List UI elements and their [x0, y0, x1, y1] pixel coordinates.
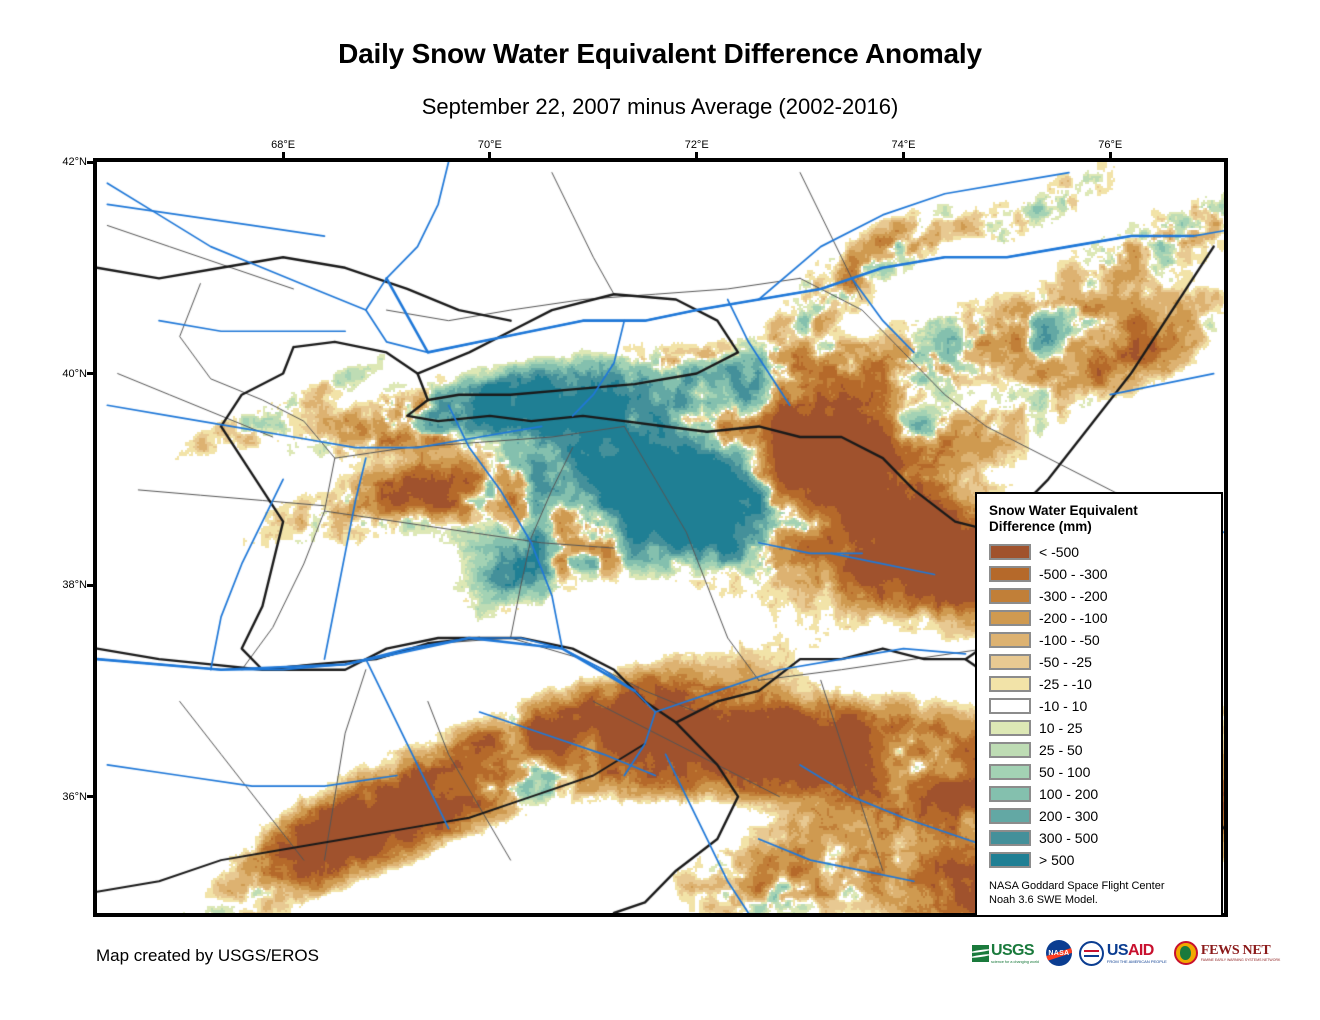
legend-swatch [989, 676, 1031, 692]
legend-label: 50 - 100 [1039, 764, 1090, 780]
longitude-label: 70°E [478, 139, 502, 151]
usgs-logo-label: USGS [991, 943, 1039, 959]
legend-label: -300 - -200 [1039, 588, 1107, 604]
longitude-tick [902, 152, 905, 162]
latitude-tick [87, 372, 97, 375]
latitude-tick [87, 161, 97, 164]
legend-label: 100 - 200 [1039, 786, 1098, 802]
latitude-label: 42°N [49, 156, 87, 168]
legend-row: 25 - 50 [989, 739, 1211, 761]
legend-swatch [989, 808, 1031, 824]
legend-label: 10 - 25 [1039, 720, 1083, 736]
legend-label: -500 - -300 [1039, 566, 1107, 582]
usgs-wave-icon [972, 945, 989, 962]
legend-swatch [989, 786, 1031, 802]
latitude-tick [87, 795, 97, 798]
legend-row: 50 - 100 [989, 761, 1211, 783]
legend-swatch [989, 698, 1031, 714]
legend-label: -200 - -100 [1039, 610, 1107, 626]
legend-label: 25 - 50 [1039, 742, 1083, 758]
fewsnet-logo: FEWS NET FAMINE EARLY WARNING SYSTEMS NE… [1174, 938, 1280, 968]
legend-source-note: NASA Goddard Space Flight Center Noah 3.… [989, 879, 1211, 908]
usgs-logo: USGS science for a changing world [972, 938, 1039, 968]
usaid-logo-tagline: FROM THE AMERICAN PEOPLE [1107, 960, 1167, 964]
legend-label: < -500 [1039, 544, 1079, 560]
legend-swatch [989, 720, 1031, 736]
legend-swatch [989, 632, 1031, 648]
legend-label: 200 - 300 [1039, 808, 1098, 824]
latitude-tick [87, 584, 97, 587]
legend-row: -25 - -10 [989, 673, 1211, 695]
longitude-label: 74°E [891, 139, 915, 151]
usaid-logo-label: USAID [1107, 943, 1167, 959]
legend-row: -10 - 10 [989, 695, 1211, 717]
usgs-logo-tagline: science for a changing world [991, 960, 1039, 964]
legend-label: -50 - -25 [1039, 654, 1092, 670]
legend-panel: Snow Water Equivalent Difference (mm) < … [975, 492, 1223, 917]
longitude-tick [282, 152, 285, 162]
legend-class-list: < -500-500 - -300-300 - -200-200 - -100-… [989, 541, 1211, 871]
nasa-meatball-icon: NASA [1046, 940, 1072, 966]
legend-swatch [989, 764, 1031, 780]
longitude-label: 76°E [1098, 139, 1122, 151]
latitude-label: 38°N [49, 579, 87, 591]
legend-row: < -500 [989, 541, 1211, 563]
nasa-logo: NASA [1046, 938, 1072, 968]
legend-label: > 500 [1039, 852, 1074, 868]
longitude-tick [695, 152, 698, 162]
legend-label: -100 - -50 [1039, 632, 1100, 648]
legend-swatch [989, 566, 1031, 582]
legend-row: 300 - 500 [989, 827, 1211, 849]
longitude-label: 68°E [271, 139, 295, 151]
latitude-label: 36°N [49, 791, 87, 803]
usaid-seal-icon [1079, 941, 1104, 966]
page-subtitle: September 22, 2007 minus Average (2002-2… [0, 94, 1320, 120]
legend-swatch [989, 742, 1031, 758]
legend-swatch [989, 830, 1031, 846]
legend-row: 200 - 300 [989, 805, 1211, 827]
legend-row: > 500 [989, 849, 1211, 871]
fewsnet-logo-label: FEWS NET [1201, 944, 1280, 958]
legend-swatch [989, 654, 1031, 670]
legend-row: -300 - -200 [989, 585, 1211, 607]
nasa-logo-label: NASA [1048, 950, 1069, 957]
usaid-logo: USAID FROM THE AMERICAN PEOPLE [1079, 938, 1167, 968]
longitude-label: 72°E [685, 139, 709, 151]
legend-swatch [989, 544, 1031, 560]
agency-logos: USGS science for a changing world NASA U… [972, 938, 1280, 968]
legend-title: Snow Water Equivalent Difference (mm) [989, 503, 1211, 535]
longitude-tick [1109, 152, 1112, 162]
legend-label: -25 - -10 [1039, 676, 1092, 692]
fewsnet-logo-tagline: FAMINE EARLY WARNING SYSTEMS NETWORK [1201, 959, 1280, 963]
latitude-label: 40°N [49, 368, 87, 380]
legend-row: 100 - 200 [989, 783, 1211, 805]
map-credit: Map created by USGS/EROS [96, 946, 319, 966]
legend-row: 10 - 25 [989, 717, 1211, 739]
legend-swatch [989, 588, 1031, 604]
legend-label: 300 - 500 [1039, 830, 1098, 846]
legend-row: -100 - -50 [989, 629, 1211, 651]
longitude-tick [488, 152, 491, 162]
legend-row: -500 - -300 [989, 563, 1211, 585]
legend-row: -50 - -25 [989, 651, 1211, 673]
legend-swatch [989, 610, 1031, 626]
legend-swatch [989, 852, 1031, 868]
legend-label: -10 - 10 [1039, 698, 1087, 714]
legend-row: -200 - -100 [989, 607, 1211, 629]
fewsnet-globe-icon [1174, 941, 1198, 965]
page-title: Daily Snow Water Equivalent Difference A… [0, 38, 1320, 70]
